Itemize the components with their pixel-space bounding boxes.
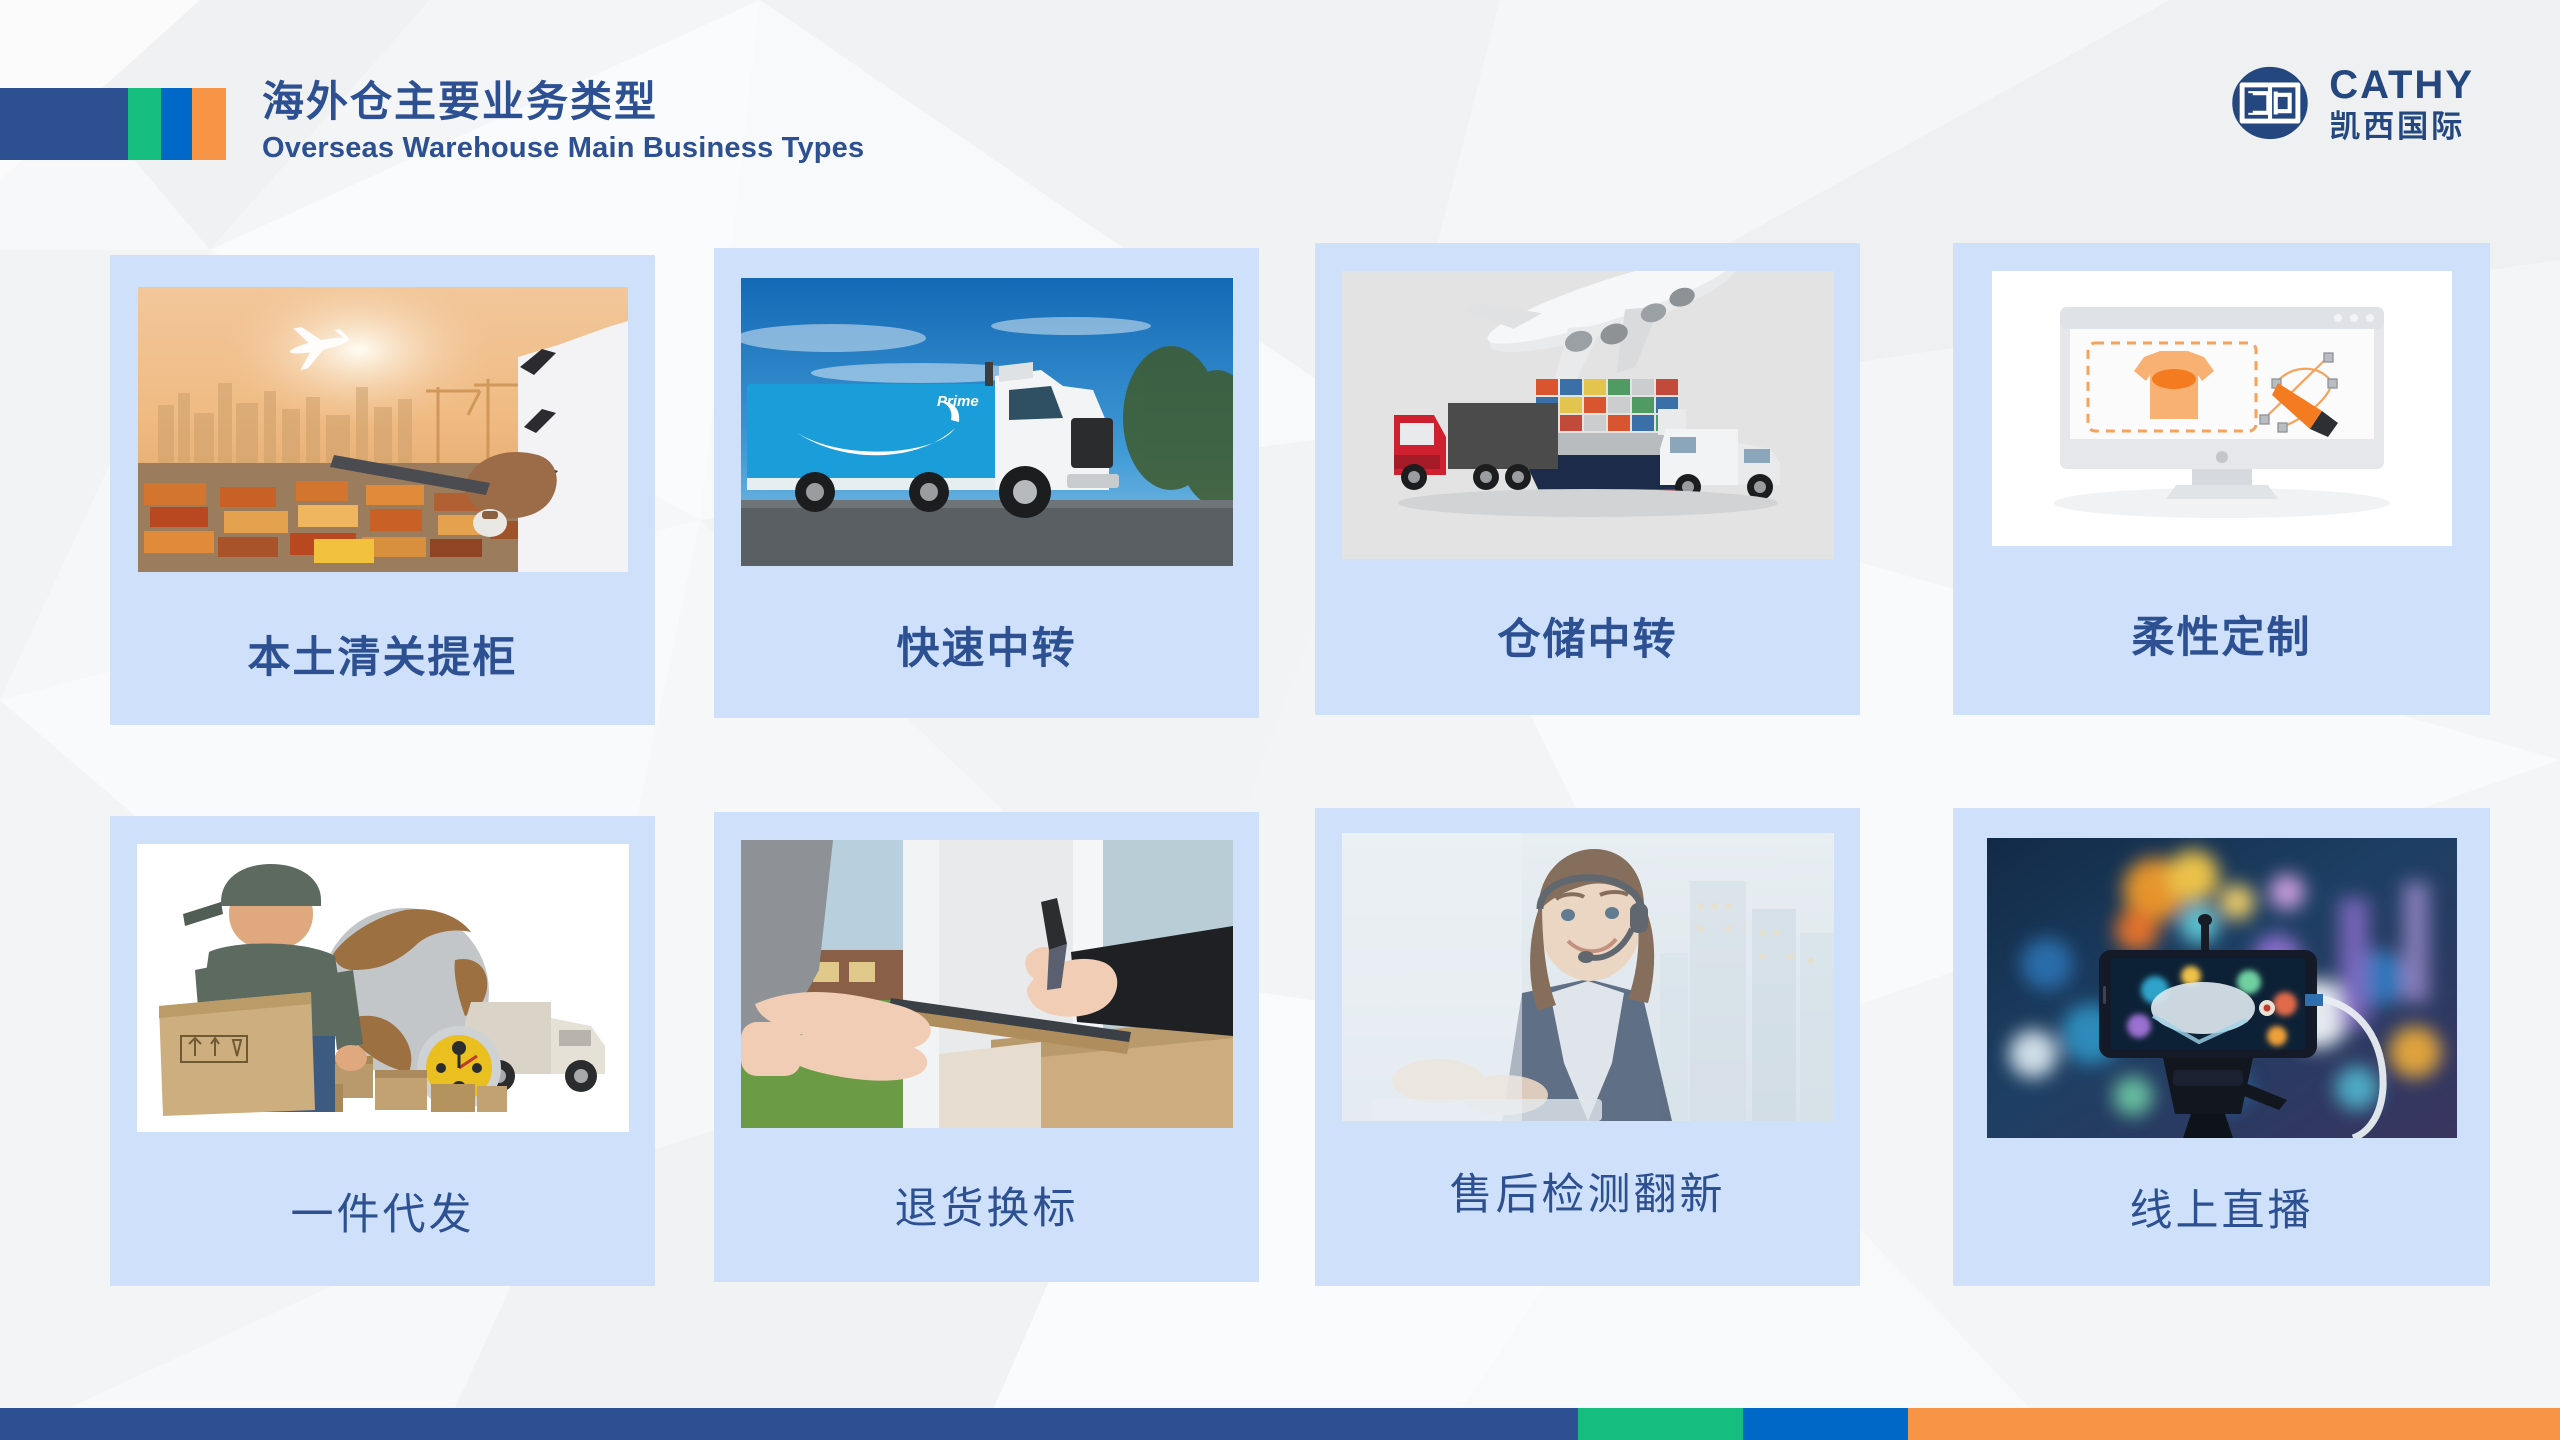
page-title-en: Overseas Warehouse Main Business Types: [262, 131, 864, 166]
card-image-after-sales-refurbish: [1342, 833, 1834, 1121]
slide-header: 海外仓主要业务类型 Overseas Warehouse Main Busine…: [0, 0, 2560, 200]
card-after-sales-refurbish[interactable]: 售后检测翻新: [1315, 808, 1860, 1286]
company-logo: CATHY 凯西国际: [2229, 62, 2474, 144]
business-type-grid: 本土清关提柜: [0, 0, 2560, 1440]
card-return-relabel[interactable]: 退货换标: [714, 812, 1259, 1282]
bottom-bar-segment-navy: [0, 1408, 1578, 1440]
card-image-warehouse-transit: [1342, 271, 1834, 559]
header-accent-bar: [0, 88, 226, 160]
svg-text:Prime: Prime: [937, 393, 979, 410]
card-label-fast-transit: 快速中转: [714, 614, 1259, 676]
card-image-dropshipping: [137, 844, 629, 1132]
card-image-fast-transit: Prime: [741, 278, 1233, 566]
accent-segment-blue: [161, 88, 192, 160]
bottom-bar-segment-orange: [1908, 1408, 2560, 1440]
card-dropshipping[interactable]: 一件代发: [110, 816, 655, 1286]
cathy-seal-icon: [2229, 62, 2311, 144]
bottom-bar-segment-blue: [1743, 1408, 1908, 1440]
card-label-after-sales-refurbish: 售后检测翻新: [1315, 1160, 1860, 1222]
card-flexible-customization[interactable]: 柔性定制: [1953, 243, 2490, 715]
card-label-warehouse-transit: 仓储中转: [1315, 605, 1860, 667]
card-image-return-relabel: [741, 840, 1233, 1128]
bottom-bar-segment-green: [1578, 1408, 1743, 1440]
card-image-customs-clearance: [138, 287, 628, 572]
page-title-cn: 海外仓主要业务类型: [262, 78, 864, 125]
slide-root: 海外仓主要业务类型 Overseas Warehouse Main Busine…: [0, 0, 2560, 1440]
card-customs-clearance[interactable]: 本土清关提柜: [110, 255, 655, 725]
card-warehouse-transit[interactable]: 仓储中转: [1315, 243, 1860, 715]
card-label-flexible-customization: 柔性定制: [1953, 603, 2490, 665]
logo-name-en: CATHY: [2329, 65, 2474, 105]
card-label-dropshipping: 一件代发: [110, 1180, 655, 1242]
card-label-return-relabel: 退货换标: [714, 1174, 1259, 1236]
card-live-streaming[interactable]: 线上直播: [1953, 808, 2490, 1286]
logo-wordmark: CATHY 凯西国际: [2329, 65, 2474, 142]
accent-segment-green: [128, 88, 161, 160]
title-block: 海外仓主要业务类型 Overseas Warehouse Main Busine…: [262, 78, 864, 166]
accent-segment-navy: [0, 88, 128, 160]
card-image-live-streaming: [1987, 838, 2457, 1138]
card-label-customs-clearance: 本土清关提柜: [110, 623, 655, 685]
card-fast-transit[interactable]: Prime 快速中转: [714, 248, 1259, 718]
accent-segment-orange: [192, 88, 226, 160]
card-label-live-streaming: 线上直播: [1953, 1176, 2490, 1238]
card-image-flexible-customization: [1992, 271, 2452, 546]
logo-name-cn: 凯西国际: [2329, 111, 2474, 142]
bottom-color-bar: [0, 1408, 2560, 1440]
